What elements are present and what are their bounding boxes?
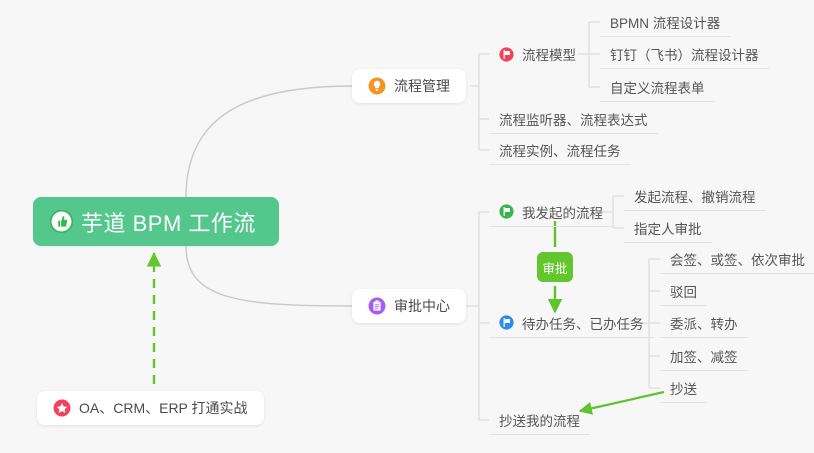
node-label: 流程监听器、流程表达式 <box>499 109 648 129</box>
node-countersign[interactable]: 会签、或签、依次审批 <box>660 244 814 274</box>
flag-icon-green <box>499 204 514 219</box>
node-label: 我发起的流程 <box>522 202 603 222</box>
root-node[interactable]: 芋道 BPM 工作流 <box>33 197 279 246</box>
node-label: 自定义流程表单 <box>610 77 705 97</box>
node-label: 待办任务、已办任务 <box>522 313 644 333</box>
approval-pill-label: 审批 <box>537 252 573 282</box>
node-dingtalk-designer[interactable]: 钉钉（飞书）流程设计器 <box>600 39 769 69</box>
node-label: 会签、或签、依次审批 <box>670 249 805 269</box>
node-label: BPMN 流程设计器 <box>610 12 720 32</box>
node-bpmn-designer[interactable]: BPMN 流程设计器 <box>600 7 730 37</box>
node-reject[interactable]: 驳回 <box>660 276 707 306</box>
node-assignee-approval[interactable]: 指定人审批 <box>624 213 712 243</box>
node-delegate-transfer[interactable]: 委派、转办 <box>660 308 748 338</box>
branch-label: 流程管理 <box>394 76 450 96</box>
thumbs-up-icon <box>50 210 73 233</box>
mindmap-canvas: 芋道 BPM 工作流 流程管理 流程模型 BPMN 流程设计器 钉钉（飞书）流程 <box>0 0 814 453</box>
node-label: 抄送 <box>670 378 697 398</box>
star-icon <box>53 399 71 417</box>
node-cc[interactable]: 抄送 <box>660 373 707 403</box>
node-custom-form[interactable]: 自定义流程表单 <box>600 72 715 102</box>
node-label: 钉钉（飞书）流程设计器 <box>610 44 759 64</box>
node-listener-expression[interactable]: 流程监听器、流程表达式 <box>489 104 658 134</box>
link-root-to-flow-mgmt <box>186 86 352 197</box>
branch-label: 审批中心 <box>394 296 450 316</box>
node-label: 流程模型 <box>522 44 576 64</box>
node-add-remove-sign[interactable]: 加签、减签 <box>660 341 748 371</box>
node-label: 流程实例、流程任务 <box>499 140 621 160</box>
flag-icon-blue <box>499 315 514 330</box>
clipboard-icon <box>368 297 386 315</box>
node-cc-to-me-processes[interactable]: 抄送我的流程 <box>489 405 590 435</box>
node-my-started-processes[interactable]: 我发起的流程 <box>489 197 613 227</box>
node-label: 抄送我的流程 <box>499 410 580 430</box>
pill-label: 审批 <box>542 258 567 277</box>
node-instance-task[interactable]: 流程实例、流程任务 <box>489 135 631 165</box>
node-label: 发起流程、撤销流程 <box>634 186 756 206</box>
branch-approval-center[interactable]: 审批中心 <box>352 289 466 323</box>
node-label: 指定人审批 <box>634 218 702 238</box>
lightbulb-icon <box>368 77 386 95</box>
node-start-cancel-process[interactable]: 发起流程、撤销流程 <box>624 181 766 211</box>
node-todo-done-tasks[interactable]: 待办任务、已办任务 <box>489 308 654 338</box>
branch-flow-management[interactable]: 流程管理 <box>352 69 466 103</box>
node-label: 委派、转办 <box>670 313 738 333</box>
node-label: 驳回 <box>670 281 697 301</box>
flag-icon-red <box>499 47 514 62</box>
node-label: 加签、减签 <box>670 346 738 366</box>
root-label: 芋道 BPM 工作流 <box>81 206 256 238</box>
node-flow-model[interactable]: 流程模型 <box>489 39 586 69</box>
card-label: OA、CRM、ERP 打通实战 <box>79 398 248 418</box>
arrow-cc-to-ccme <box>580 392 664 411</box>
link-root-to-approve-center <box>186 246 352 306</box>
floating-card-integration[interactable]: OA、CRM、ERP 打通实战 <box>37 391 264 425</box>
